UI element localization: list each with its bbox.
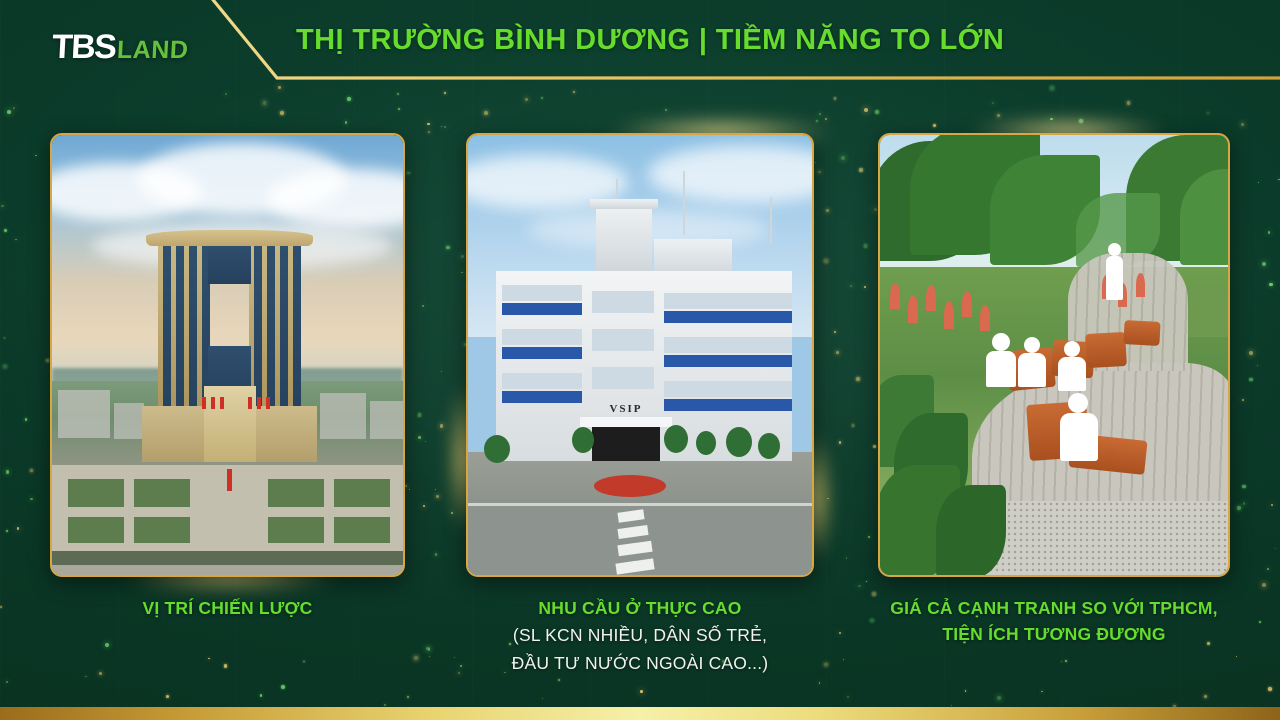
caption-title-1: VỊ TRÍ CHIẾN LƯỢC xyxy=(50,595,405,621)
photo-frame-1 xyxy=(50,133,405,577)
photo-frame-3 xyxy=(878,133,1230,577)
brand-logo: TBS LAND xyxy=(52,28,189,67)
caption-block-2: NHU CẦU Ở THỰC CAO (SL KCN NHIỀU, DÂN SỐ… xyxy=(466,595,814,677)
card-housing-demand: VSIP NHU CẦ xyxy=(466,133,814,693)
caption-subline-2a: (SL KCN NHIỀU, DÂN SỐ TRẺ, xyxy=(466,621,814,649)
caption-title-3: GIÁ CẢ CẠNH TRANH SO VỚI TPHCM, xyxy=(878,595,1230,621)
slide-canvas: TBS LAND THỊ TRƯỜNG BÌNH DƯƠNG | TIỀM NĂ… xyxy=(0,0,1280,720)
logo-text-land: LAND xyxy=(116,36,189,65)
photo-sign-vsip: VSIP xyxy=(580,403,672,415)
photo-vsip-industrial-park-building: VSIP xyxy=(468,135,812,575)
caption-block-1: VỊ TRÍ CHIẾN LƯỢC xyxy=(50,595,405,621)
photo-binh-duong-administrative-center xyxy=(52,135,403,575)
card-strategic-location: VỊ TRÍ CHIẾN LƯỢC xyxy=(50,133,405,633)
footer-gold-bar xyxy=(0,707,1280,720)
photo-frame-2: VSIP xyxy=(466,133,814,577)
caption-title-2: NHU CẦU Ở THỰC CAO xyxy=(466,595,814,621)
caption-block-3: GIÁ CẢ CẠNH TRANH SO VỚI TPHCM, TIỆN ÍCH… xyxy=(878,595,1230,647)
logo-text-tbs: TBS xyxy=(51,28,116,67)
caption-title-3b: TIỆN ÍCH TƯƠNG ĐƯƠNG xyxy=(878,621,1230,647)
caption-subline-2b: ĐẦU TƯ NƯỚC NGOÀI CAO...) xyxy=(466,649,814,677)
card-competitive-price: GIÁ CẢ CẠNH TRANH SO VỚI TPHCM, TIỆN ÍCH… xyxy=(878,133,1230,653)
slide-header: TBS LAND THỊ TRƯỜNG BÌNH DƯƠNG | TIỀM NĂ… xyxy=(0,0,1280,110)
photo-landscape-amenity-render xyxy=(880,135,1228,575)
page-title: THỊ TRƯỜNG BÌNH DƯƠNG | TIỀM NĂNG TO LỚN xyxy=(296,24,1004,57)
